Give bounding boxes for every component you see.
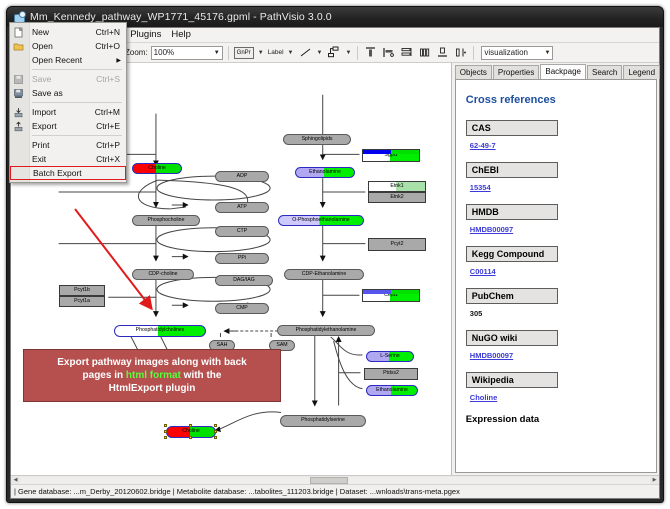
node-label: Choline [182,429,200,434]
selection-handle[interactable] [214,424,218,428]
xref-source-header: Kegg Compound [466,246,558,262]
xref-source-header: PubChem [466,288,558,304]
xref-value: 305 [470,309,646,318]
chevron-right-icon: ▶ [116,57,121,64]
callout-line-2b: with the [181,370,222,381]
xref-value[interactable]: 15354 [470,183,646,192]
pathway-node-gene[interactable]: Pcyt2 [368,238,426,251]
zoom-combobox[interactable]: 100% ▼ [151,46,223,60]
menu-item-label: Batch Export [33,168,82,178]
node-label: O-Phosphoethanolamine [292,218,349,223]
callout-line-1: Export pathway images along with back [57,357,247,368]
tab-objects[interactable]: Objects [455,65,492,79]
menu-item-new[interactable]: NewCtrl+N [10,25,126,39]
menu-item-label: Exit [32,154,46,164]
expression-color-bar [363,290,419,294]
align-columns-icon[interactable] [417,45,432,60]
backpage-content[interactable]: Cross references CAS62-49-7ChEBI15354HMD… [455,79,657,473]
xref-value[interactable]: C00114 [470,267,646,276]
pathway-node-metabolite[interactable]: CDP-choline [132,269,194,280]
node-label: PPi [238,256,246,261]
node-label: Etnk2 [390,195,403,200]
align-stack-icon[interactable] [399,45,414,60]
side-panel: Objects Properties Backpage Search Legen… [452,63,659,475]
menu-item-import[interactable]: ImportCtrl+M [10,105,126,119]
application-window: Mm_Kennedy_pathway_WP1771_45176.gpml - P… [6,6,664,503]
pathway-node-metabolite[interactable]: Phosphatidylethanolamine [277,325,375,336]
save-as-icon [13,88,24,99]
pathway-node-metabolite[interactable]: Phosphatidylserine [280,415,366,427]
menu-separator [32,69,122,70]
pathway-node-metabolite[interactable]: ATP [215,202,269,213]
pathway-node-metabolite[interactable]: CMP [215,303,269,314]
callout-line-3: HtmlExport plugin [109,383,196,394]
menu-item-label: Import [32,107,56,117]
align-top-icon[interactable] [363,45,378,60]
node-label: CDP-Ethanolamine [302,272,346,277]
node-label: Pcyt1a [74,299,90,304]
save-disk-icon [13,74,24,85]
menu-item-print[interactable]: PrintCtrl+P [10,138,126,152]
pathway-node-metabolite[interactable]: Choline [132,163,182,174]
align-left-icon[interactable] [381,45,396,60]
node-label: Phosphocholine [148,218,185,223]
menu-help[interactable]: Help [166,28,196,42]
pathway-node-metabolite[interactable]: CDP-Ethanolamine [284,269,364,280]
menu-item-open-recent[interactable]: Open Recent▶ [10,53,126,67]
node-label: SAM [276,343,287,348]
expression-data-title: Expression data [466,414,646,425]
xref-source-header: HMDB [466,204,558,220]
menu-item-save: SaveCtrl+S [10,72,126,86]
xref-link[interactable]: HMDB00097 [470,225,513,234]
pathway-node-metabolite[interactable]: Sphingolipids [283,134,351,145]
scrollbar-thumb[interactable] [310,477,348,484]
chevron-down-icon[interactable]: ▼ [288,50,294,56]
pathway-node-gene[interactable]: Sgpl1 [362,149,420,162]
zoom-value: 100% [154,48,174,57]
side-panel-tabs: Objects Properties Backpage Search Legen… [452,63,659,79]
pathway-node-metabolite[interactable]: O-Phosphoethanolamine [278,215,364,226]
xref-link[interactable]: HMDB00097 [470,351,513,360]
node-label: CDP-choline [148,272,177,277]
menu-plugins[interactable]: Plugins [125,28,166,42]
scroll-right-icon[interactable]: ▶ [650,476,659,485]
node-label: SAH [217,343,228,348]
pathway-node-metabolite[interactable]: DAG/IAG [215,275,273,286]
callout-line-2a: pages in [83,370,126,381]
pathway-node-metabolite[interactable]: Ethanolamine [366,385,418,396]
pathway-node-gene[interactable]: Etnk2 [368,192,426,203]
menu-separator [32,135,122,136]
node-label: CMP [236,306,248,311]
align-bottom-icon[interactable] [435,45,450,60]
node-label: Choline [148,166,166,171]
menu-item-label: New [32,27,49,37]
menu-item-label: Print [32,140,49,150]
menu-separator [32,102,122,103]
annotation-callout: Export pathway images along with back pa… [23,349,281,402]
status-bar: | Gene database: ...m_Derby_20120602.bri… [11,484,659,498]
node-label: ADP [237,174,248,179]
node-label: Phosphatidylserine [301,418,345,423]
menu-item-shortcut: Ctrl+N [96,27,120,37]
selection-handle[interactable] [214,436,218,440]
callout-highlight: html format [126,370,181,381]
pathway-node-metabolite[interactable]: PPi [215,253,269,264]
menu-item-shortcut: Ctrl+M [95,107,120,117]
menu-item-label: Export [32,121,57,131]
menu-item-batch-export[interactable]: Batch Export [10,166,126,180]
node-label: CTP [237,229,247,234]
interaction-tool[interactable] [326,45,341,60]
zoom-label: Zoom: [125,48,148,57]
export-icon [13,121,24,132]
xref-value[interactable]: HMDB00097 [470,225,646,234]
pathway-node-gene[interactable]: Cept1 [362,289,420,302]
menu-item-label: Save [32,74,51,84]
node-label: Ethanolamine [376,388,408,393]
xref-link[interactable]: C00114 [470,267,496,276]
status-text: | Gene database: ...m_Derby_20120602.bri… [14,487,460,496]
node-label: Pcyt2 [391,242,404,247]
toolbar-separator [228,46,229,60]
menu-item-shortcut: Ctrl+E [96,121,120,131]
node-label: Ptdss2 [383,371,399,376]
datanode-tool[interactable]: GnPr [234,47,254,59]
menu-item-shortcut: Ctrl+P [96,140,120,150]
toolbar-separator [357,46,358,60]
pathway-node-metabolite[interactable]: CTP [215,226,269,237]
xref-value[interactable]: Choline [470,393,646,402]
node-label: ATP [237,205,247,210]
menu-item-shortcut: Ctrl+O [95,41,120,51]
pathway-node-metabolite[interactable]: Phosphatidylcholines [114,325,206,337]
xref-link[interactable]: Choline [470,393,498,402]
selection-handle[interactable] [164,424,168,428]
menu-item-label: Open Recent [32,55,82,65]
pathway-node-gene[interactable]: Pcyt1a [59,296,105,307]
selection-handle[interactable] [164,436,168,440]
scrollbar-track[interactable] [20,477,650,484]
tab-properties[interactable]: Properties [493,65,539,79]
cross-references-title: Cross references [466,94,646,106]
node-label: DAG/IAG [233,278,255,283]
xref-source-header: ChEBI [466,162,558,178]
pathway-node-gene[interactable]: Ptdss2 [364,368,418,380]
node-label: L-Serine [380,354,400,359]
menu-item-label: Open [32,41,53,51]
pathway-node-gene[interactable]: Pcyt1b [59,285,105,296]
visualization-value: visualization [484,48,528,57]
node-label: Sphingolipids [302,137,333,142]
selection-handle[interactable] [189,436,193,440]
chevron-down-icon: ▼ [544,50,550,56]
xref-value[interactable]: HMDB00097 [470,351,646,360]
chevron-down-icon: ▼ [214,50,220,56]
xref-link[interactable]: 62-49-7 [470,141,496,150]
pathway-node-metabolite[interactable]: ADP [215,171,269,182]
pathway-node-metabolite[interactable]: L-Serine [366,351,414,362]
tab-backpage[interactable]: Backpage [540,64,586,79]
horizontal-scrollbar[interactable]: ◀ ▶ [11,475,659,484]
menu-item-label: Save as [32,88,63,98]
tab-search[interactable]: Search [587,65,622,79]
menu-item-open[interactable]: OpenCtrl+O [10,39,126,53]
xref-value[interactable]: 62-49-7 [470,141,646,150]
menu-item-shortcut: Ctrl+S [96,74,120,84]
menu-item-export[interactable]: ExportCtrl+E [10,119,126,133]
cross-reference-list: CAS62-49-7ChEBI15354HMDBHMDB00097Kegg Co… [466,120,646,402]
xref-source-header: CAS [466,120,558,136]
selection-handle[interactable] [164,430,168,434]
chevron-down-icon[interactable]: ▼ [317,50,323,56]
align-right-icon[interactable] [453,45,468,60]
import-icon [13,107,24,118]
chevron-down-icon[interactable]: ▼ [258,50,264,56]
line-tool[interactable] [298,45,313,60]
pathway-node-gene[interactable]: Etnk1 [368,181,426,192]
pathway-node-metabolite[interactable]: Phosphocholine [132,215,200,226]
node-label: Phosphatidylethanolamine [296,328,357,333]
node-label: Ethanolamine [309,170,341,175]
selection-handle[interactable] [214,430,218,434]
file-menu-dropdown[interactable]: NewCtrl+NOpenCtrl+OOpen Recent▶SaveCtrl+… [9,22,127,183]
menu-item-exit[interactable]: ExitCtrl+X [10,152,126,166]
chevron-down-icon[interactable]: ▼ [345,50,351,56]
visualization-combobox[interactable]: visualization ▼ [481,46,553,60]
xref-link[interactable]: 15354 [470,183,491,192]
tab-legend[interactable]: Legend [623,65,660,79]
node-label: Pcyt1b [74,288,90,293]
xref-source-header: Wikipedia [466,372,558,388]
toolbar-separator [473,46,474,60]
open-folder-icon [13,41,24,52]
scroll-left-icon[interactable]: ◀ [11,476,20,485]
new-file-icon [13,27,24,38]
expression-color-bar [363,150,419,154]
menu-item-shortcut: Ctrl+X [96,154,120,164]
node-label: Etnk1 [390,184,403,189]
selection-handle[interactable] [189,424,193,428]
node-label: Phosphatidylcholines [136,328,185,333]
xref-source-header: NuGO wiki [466,330,558,346]
menu-item-save-as[interactable]: Save as [10,86,126,100]
label-tool[interactable]: Label [268,49,284,56]
pathway-node-metabolite[interactable]: Ethanolamine [295,167,355,178]
